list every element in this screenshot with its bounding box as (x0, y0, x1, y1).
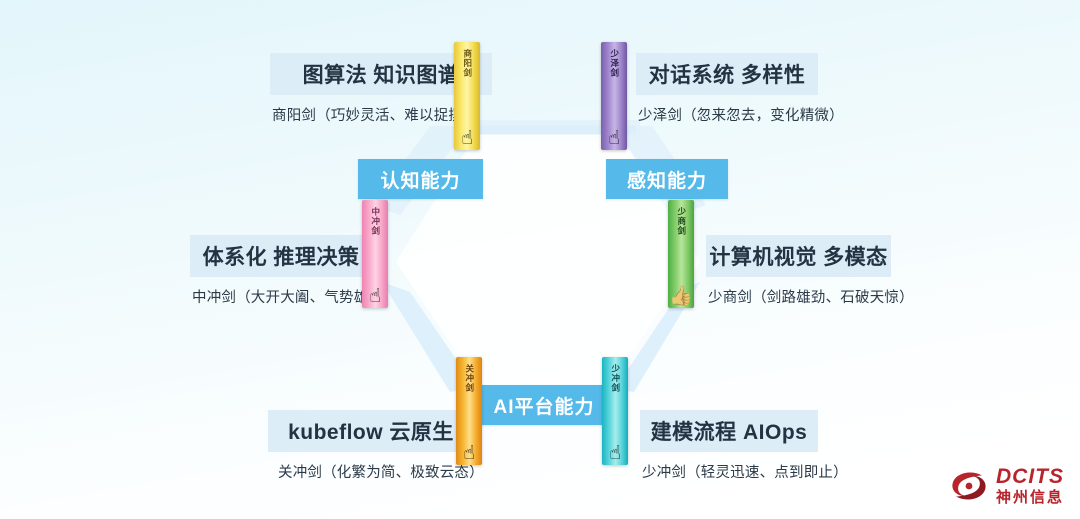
node-modeling-aiops: 建模流程 AIOps 少冲剑（轻灵迅速、点到即止） (640, 410, 875, 482)
capability-perceptive[interactable]: 感知能力 (606, 159, 728, 199)
node-cloud-native-title-bar: kubeflow 云原生 (268, 410, 474, 452)
capability-platform-label: AI平台能力 (493, 392, 594, 419)
company-logo: DCITS 神州信息 (949, 466, 1064, 505)
node-modeling-aiops-title-bar: 建模流程 AIOps (640, 410, 818, 452)
diagram-canvas: 认知能力 感知能力 AI平台能力 图算法 知识图谱 商阳剑（巧妙灵活、难以捉摸）… (0, 0, 1080, 519)
sword-zhongchong-label: 中冲剑 (370, 207, 380, 236)
logo-en-text: DCITS (996, 466, 1064, 487)
node-computer-vision: 计算机视觉 多模态 少商剑（剑路雄劲、石破天惊） (706, 235, 956, 307)
pointing-hand-icon: ☝ (608, 129, 620, 148)
sword-shaoze[interactable]: 少泽剑 ☝ (601, 42, 627, 150)
node-reasoning-decision-title: 体系化 推理决策 (203, 241, 360, 271)
sword-shaochong[interactable]: 少冲剑 ☝ (602, 357, 628, 465)
swirl-logo-icon (949, 469, 989, 503)
thumbs-up-icon: 👍 (669, 287, 693, 306)
capability-cognitive[interactable]: 认知能力 (358, 159, 483, 199)
node-modeling-aiops-desc: 少冲剑（轻灵迅速、点到即止） (640, 461, 875, 482)
node-knowledge-graph-title: 图算法 知识图谱 (303, 59, 460, 89)
sword-guanchong[interactable]: 关冲剑 ☝ (456, 357, 482, 465)
sword-shaochong-label: 少冲剑 (610, 364, 620, 393)
sword-guanchong-label: 关冲剑 (464, 364, 474, 393)
sword-shangyang-label: 商阳剑 (462, 49, 472, 78)
sword-shaoshang-label: 少商剑 (676, 207, 686, 236)
capability-perceptive-label: 感知能力 (627, 166, 707, 193)
logo-cn-text: 神州信息 (996, 490, 1064, 505)
node-modeling-aiops-title: 建模流程 AIOps (651, 416, 808, 446)
pointing-hand-icon: ☝ (463, 444, 475, 463)
node-cloud-native-title: kubeflow 云原生 (288, 416, 454, 446)
node-dialogue-system-title-bar: 对话系统 多样性 (636, 53, 818, 95)
sword-shaoshang[interactable]: 少商剑 👍 (668, 200, 694, 308)
capability-cognitive-label: 认知能力 (380, 166, 460, 193)
pointing-hand-icon: ☝ (369, 287, 381, 306)
node-dialogue-system: 对话系统 多样性 少泽剑（忽来忽去，变化精微） (636, 53, 886, 125)
pointing-hand-icon: ☝ (609, 444, 621, 463)
sword-shangyang[interactable]: 商阳剑 ☝ (454, 42, 480, 150)
sword-shaoze-label: 少泽剑 (609, 49, 619, 78)
node-computer-vision-title-bar: 计算机视觉 多模态 (706, 235, 891, 277)
capability-platform[interactable]: AI平台能力 (478, 385, 610, 425)
sword-zhongchong[interactable]: 中冲剑 ☝ (362, 200, 388, 308)
node-computer-vision-title: 计算机视觉 多模态 (709, 241, 887, 271)
node-dialogue-system-title: 对话系统 多样性 (649, 59, 806, 89)
node-computer-vision-desc: 少商剑（剑路雄劲、石破天惊） (706, 286, 956, 307)
pointing-hand-icon: ☝ (461, 129, 473, 148)
node-dialogue-system-desc: 少泽剑（忽来忽去，变化精微） (636, 104, 886, 125)
node-reasoning-decision-title-bar: 体系化 推理决策 (190, 235, 372, 277)
